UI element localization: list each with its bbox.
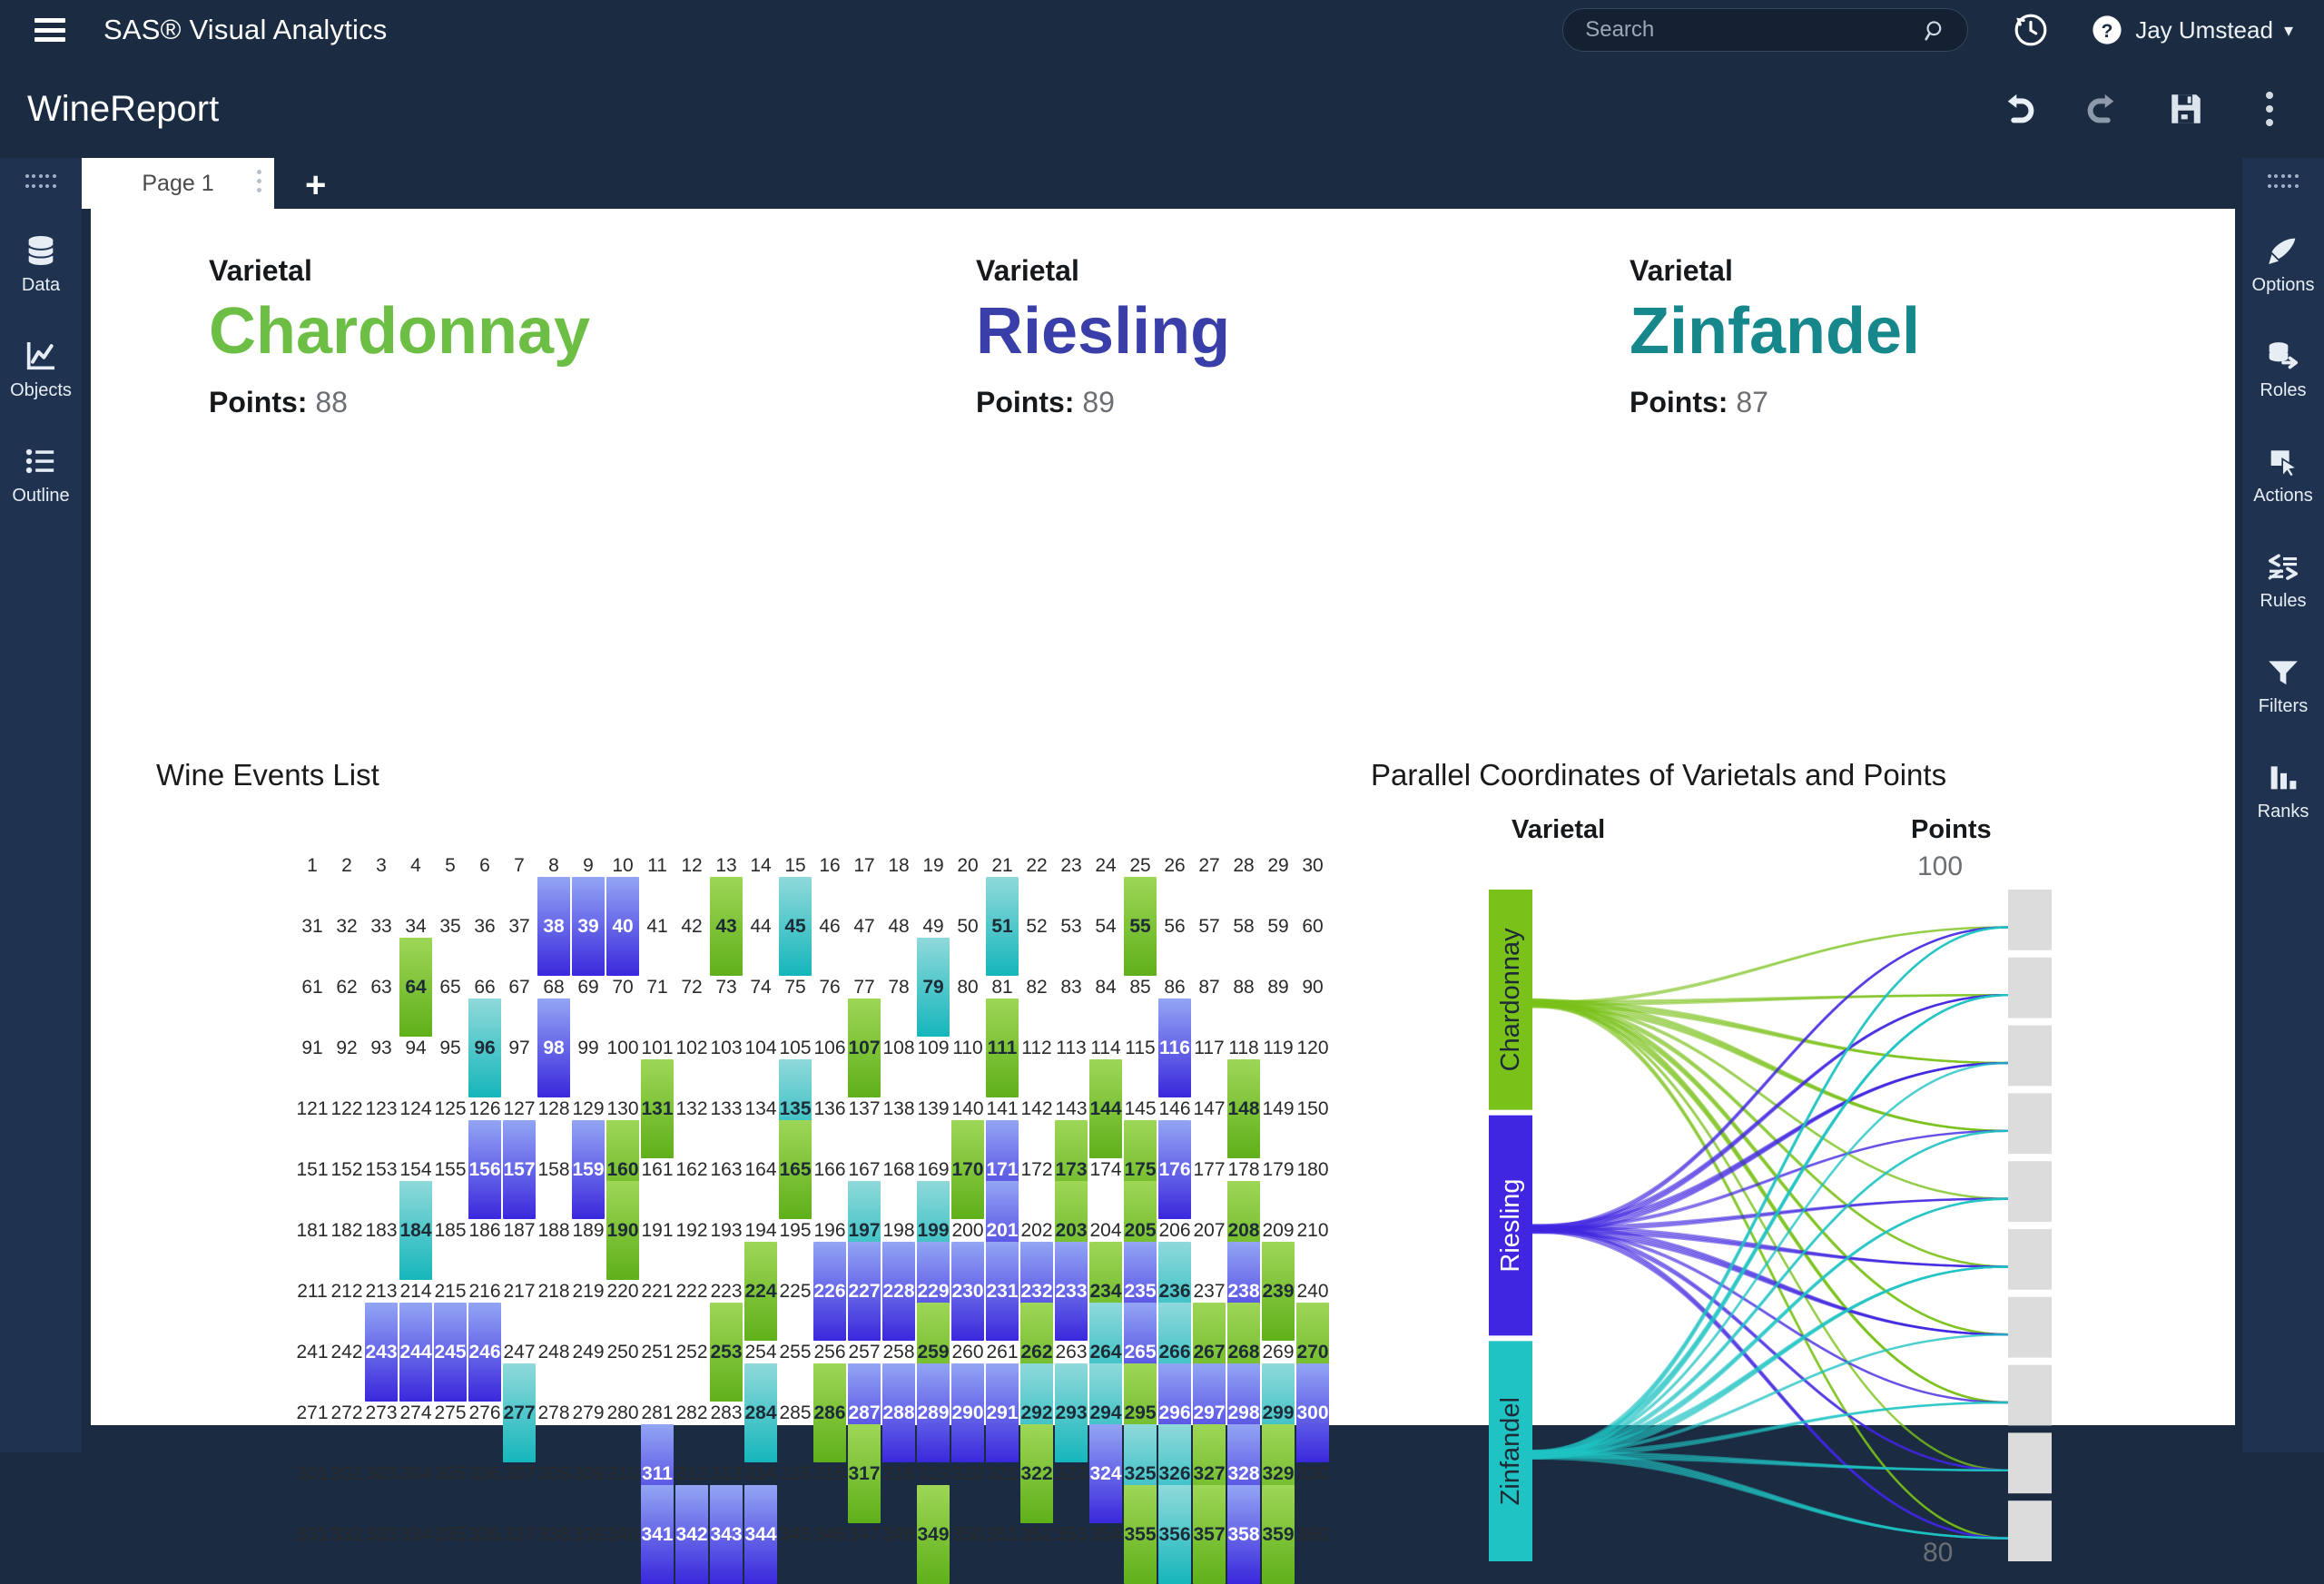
event-cell[interactable]: 17 xyxy=(847,835,881,896)
event-cell[interactable]: 318 xyxy=(881,1443,916,1504)
event-cell[interactable]: 310 xyxy=(606,1443,640,1504)
event-cell[interactable]: 180 xyxy=(1295,1139,1330,1200)
event-cell[interactable]: 121 xyxy=(295,1078,330,1139)
event-cell[interactable]: 110 xyxy=(950,1018,985,1078)
event-cell-highlighted[interactable]: 322 xyxy=(1019,1443,1054,1504)
event-cell-highlighted[interactable]: 96 xyxy=(468,1018,502,1078)
event-cell[interactable]: 211 xyxy=(295,1261,330,1322)
event-cell-highlighted[interactable]: 359 xyxy=(1261,1504,1295,1565)
more-options-button[interactable] xyxy=(2248,87,2291,131)
event-cell[interactable]: 305 xyxy=(433,1443,468,1504)
event-cell[interactable]: 306 xyxy=(468,1443,502,1504)
event-cell[interactable]: 85 xyxy=(1123,957,1157,1018)
sidebar-item-options[interactable]: Options xyxy=(2242,232,2324,296)
event-cell[interactable]: 323 xyxy=(1054,1443,1088,1504)
pc-points-segment[interactable] xyxy=(2008,890,2052,950)
event-cell[interactable]: 191 xyxy=(640,1200,675,1261)
event-cell[interactable]: 350 xyxy=(950,1504,985,1565)
event-cell[interactable]: 218 xyxy=(537,1261,571,1322)
event-cell[interactable]: 36 xyxy=(468,896,502,957)
event-cell[interactable]: 104 xyxy=(743,1018,778,1078)
tab-menu-icon[interactable] xyxy=(257,170,261,192)
event-cell[interactable]: 74 xyxy=(743,957,778,1018)
event-cell[interactable]: 23 xyxy=(1054,835,1088,896)
event-cell[interactable]: 352 xyxy=(1019,1504,1054,1565)
event-cell[interactable]: 187 xyxy=(502,1200,537,1261)
event-cell[interactable]: 137 xyxy=(847,1078,881,1139)
event-cell[interactable]: 89 xyxy=(1261,957,1295,1018)
event-cell-highlighted[interactable]: 288 xyxy=(881,1382,916,1443)
event-cell[interactable]: 222 xyxy=(675,1261,709,1322)
event-cell[interactable]: 152 xyxy=(330,1139,364,1200)
sidebar-item-rules[interactable]: Rules xyxy=(2242,548,2324,612)
event-cell[interactable]: 71 xyxy=(640,957,675,1018)
event-cell-highlighted[interactable]: 357 xyxy=(1192,1504,1226,1565)
event-cell[interactable]: 99 xyxy=(571,1018,606,1078)
event-cell-highlighted[interactable]: 227 xyxy=(847,1261,881,1322)
event-cell[interactable]: 123 xyxy=(364,1078,399,1139)
event-cell[interactable]: 20 xyxy=(950,835,985,896)
pc-points-segment[interactable] xyxy=(2008,1026,2052,1087)
event-cell[interactable]: 22 xyxy=(1019,835,1054,896)
event-cell[interactable]: 188 xyxy=(537,1200,571,1261)
event-cell[interactable]: 285 xyxy=(778,1382,812,1443)
pc-points-segment[interactable] xyxy=(2008,1093,2052,1154)
event-cell[interactable]: 122 xyxy=(330,1078,364,1139)
event-cell[interactable]: 172 xyxy=(1019,1139,1054,1200)
event-cell[interactable]: 346 xyxy=(812,1504,847,1565)
kpi-card-zinfandel[interactable]: Varietal Zinfandel Points: 87 xyxy=(1630,254,1920,419)
event-cell[interactable]: 128 xyxy=(537,1078,571,1139)
pc-points-segment[interactable] xyxy=(2008,958,2052,1018)
event-cell[interactable]: 315 xyxy=(778,1443,812,1504)
tab-page-1[interactable]: Page 1 xyxy=(82,158,274,209)
event-cell[interactable]: 271 xyxy=(295,1382,330,1443)
grip-icon[interactable] xyxy=(25,174,56,191)
event-cell[interactable]: 179 xyxy=(1261,1139,1295,1200)
event-cell-highlighted[interactable]: 284 xyxy=(743,1382,778,1443)
event-cell-highlighted[interactable]: 244 xyxy=(399,1322,433,1382)
event-cell[interactable]: 177 xyxy=(1192,1139,1226,1200)
event-cell[interactable]: 112 xyxy=(1019,1018,1054,1078)
event-cell[interactable]: 29 xyxy=(1261,835,1295,896)
hamburger-icon[interactable] xyxy=(34,18,65,42)
event-cell[interactable]: 132 xyxy=(675,1078,709,1139)
event-cell[interactable]: 221 xyxy=(640,1261,675,1322)
event-cell[interactable]: 151 xyxy=(295,1139,330,1200)
event-cell[interactable]: 41 xyxy=(640,896,675,957)
event-cell[interactable]: 186 xyxy=(468,1200,502,1261)
event-cell[interactable]: 273 xyxy=(364,1382,399,1443)
pc-points-segment[interactable] xyxy=(2008,1365,2052,1426)
event-cell-highlighted[interactable]: 341 xyxy=(640,1504,675,1565)
event-cell[interactable]: 250 xyxy=(606,1322,640,1382)
event-cell[interactable]: 87 xyxy=(1192,957,1226,1018)
event-cell[interactable]: 53 xyxy=(1054,896,1088,957)
sidebar-item-filters[interactable]: Filters xyxy=(2242,654,2324,717)
user-menu-label[interactable]: Jay Umstead xyxy=(2135,16,2273,44)
event-cell-highlighted[interactable]: 157 xyxy=(502,1139,537,1200)
event-cell-highlighted[interactable]: 356 xyxy=(1157,1504,1192,1565)
event-cell[interactable]: 95 xyxy=(433,1018,468,1078)
event-cell-highlighted[interactable]: 293 xyxy=(1054,1382,1088,1443)
event-cell[interactable]: 136 xyxy=(812,1078,847,1139)
event-cell[interactable]: 274 xyxy=(399,1382,433,1443)
event-cell[interactable]: 303 xyxy=(364,1443,399,1504)
event-cell[interactable]: 78 xyxy=(881,957,916,1018)
event-cell[interactable]: 142 xyxy=(1019,1078,1054,1139)
event-cell[interactable]: 48 xyxy=(881,896,916,957)
wine-events-grid[interactable]: 1234567891011121314151617181920212223242… xyxy=(295,835,1330,1565)
event-cell-highlighted[interactable]: 291 xyxy=(985,1382,1019,1443)
grip-icon[interactable] xyxy=(2268,174,2299,191)
event-cell[interactable]: 302 xyxy=(330,1443,364,1504)
event-cell-highlighted[interactable]: 246 xyxy=(468,1322,502,1382)
event-cell[interactable]: 304 xyxy=(399,1443,433,1504)
sidebar-item-data[interactable]: Data xyxy=(0,232,82,296)
event-cell[interactable]: 192 xyxy=(675,1200,709,1261)
event-cell[interactable]: 50 xyxy=(950,896,985,957)
event-cell[interactable]: 125 xyxy=(433,1078,468,1139)
event-cell[interactable]: 59 xyxy=(1261,896,1295,957)
event-cell[interactable]: 153 xyxy=(364,1139,399,1200)
event-cell[interactable]: 83 xyxy=(1054,957,1088,1018)
event-cell[interactable]: 58 xyxy=(1226,896,1261,957)
event-cell[interactable]: 210 xyxy=(1295,1200,1330,1261)
event-cell[interactable]: 252 xyxy=(675,1322,709,1382)
event-cell[interactable]: 14 xyxy=(743,835,778,896)
event-cell[interactable]: 147 xyxy=(1192,1078,1226,1139)
event-cell[interactable]: 11 xyxy=(640,835,675,896)
event-cell[interactable]: 93 xyxy=(364,1018,399,1078)
event-cell[interactable]: 330 xyxy=(1295,1443,1330,1504)
event-cell-highlighted[interactable]: 224 xyxy=(743,1261,778,1322)
pc-points-segment[interactable] xyxy=(2008,1161,2052,1222)
event-cell[interactable]: 100 xyxy=(606,1018,640,1078)
event-cell-highlighted[interactable]: 277 xyxy=(502,1382,537,1443)
event-cell-highlighted[interactable]: 230 xyxy=(950,1261,985,1322)
event-cell[interactable]: 31 xyxy=(295,896,330,957)
event-cell[interactable]: 278 xyxy=(537,1382,571,1443)
event-cell-highlighted[interactable]: 344 xyxy=(743,1504,778,1565)
event-cell[interactable]: 57 xyxy=(1192,896,1226,957)
event-cell-highlighted[interactable]: 40 xyxy=(606,896,640,957)
event-cell[interactable]: 354 xyxy=(1088,1504,1123,1565)
event-cell[interactable]: 182 xyxy=(330,1200,364,1261)
event-cell[interactable]: 276 xyxy=(468,1382,502,1443)
event-cell[interactable]: 97 xyxy=(502,1018,537,1078)
event-cell[interactable]: 1 xyxy=(295,835,330,896)
event-cell-highlighted[interactable]: 165 xyxy=(778,1139,812,1200)
event-cell-highlighted[interactable]: 98 xyxy=(537,1018,571,1078)
event-cell-highlighted[interactable]: 226 xyxy=(812,1261,847,1322)
event-cell-highlighted[interactable]: 349 xyxy=(916,1504,950,1565)
event-cell[interactable]: 251 xyxy=(640,1322,675,1382)
event-cell-highlighted[interactable]: 116 xyxy=(1157,1018,1192,1078)
kpi-card-riesling[interactable]: Varietal Riesling Points: 89 xyxy=(976,254,1230,419)
event-cell-highlighted[interactable]: 300 xyxy=(1295,1382,1330,1443)
event-cell[interactable]: 212 xyxy=(330,1261,364,1322)
event-cell-highlighted[interactable]: 176 xyxy=(1157,1139,1192,1200)
event-cell[interactable]: 73 xyxy=(709,957,743,1018)
search-box[interactable] xyxy=(1562,8,1968,52)
event-cell[interactable]: 72 xyxy=(675,957,709,1018)
event-cell[interactable]: 56 xyxy=(1157,896,1192,957)
event-cell[interactable]: 316 xyxy=(812,1443,847,1504)
event-cell[interactable]: 185 xyxy=(433,1200,468,1261)
event-cell-highlighted[interactable]: 190 xyxy=(606,1200,640,1261)
event-cell[interactable]: 164 xyxy=(743,1139,778,1200)
event-cell-highlighted[interactable]: 55 xyxy=(1123,896,1157,957)
event-cell[interactable]: 52 xyxy=(1019,896,1054,957)
event-cell-highlighted[interactable]: 239 xyxy=(1261,1261,1295,1322)
event-cell[interactable]: 32 xyxy=(330,896,364,957)
event-cell-highlighted[interactable]: 355 xyxy=(1123,1504,1157,1565)
event-cell-highlighted[interactable]: 289 xyxy=(916,1382,950,1443)
event-cell[interactable]: 4 xyxy=(399,835,433,896)
event-cell-highlighted[interactable]: 253 xyxy=(709,1322,743,1382)
event-cell[interactable]: 60 xyxy=(1295,896,1330,957)
event-cell-highlighted[interactable]: 107 xyxy=(847,1018,881,1078)
add-page-button[interactable]: + xyxy=(305,171,326,200)
event-cell[interactable]: 353 xyxy=(1054,1504,1088,1565)
sidebar-item-objects[interactable]: Objects xyxy=(0,338,82,401)
event-cell[interactable]: 67 xyxy=(502,957,537,1018)
event-cell[interactable]: 102 xyxy=(675,1018,709,1078)
event-cell[interactable]: 106 xyxy=(812,1018,847,1078)
event-cell[interactable]: 333 xyxy=(364,1504,399,1565)
event-cell-highlighted[interactable]: 38 xyxy=(537,896,571,957)
event-cell[interactable]: 2 xyxy=(330,835,364,896)
event-cell[interactable]: 18 xyxy=(881,835,916,896)
search-icon[interactable] xyxy=(1924,19,1947,43)
event-cell[interactable]: 360 xyxy=(1295,1504,1330,1565)
event-cell-highlighted[interactable]: 358 xyxy=(1226,1504,1261,1565)
event-cell[interactable]: 149 xyxy=(1261,1078,1295,1139)
sidebar-item-actions[interactable]: Actions xyxy=(2242,443,2324,507)
pc-points-segment[interactable] xyxy=(2008,1432,2052,1493)
event-cell[interactable]: 76 xyxy=(812,957,847,1018)
event-cell[interactable]: 12 xyxy=(675,835,709,896)
event-cell[interactable]: 16 xyxy=(812,835,847,896)
sidebar-item-outline[interactable]: Outline xyxy=(0,443,82,507)
event-cell[interactable]: 6 xyxy=(468,835,502,896)
event-cell-highlighted[interactable]: 184 xyxy=(399,1200,433,1261)
event-cell-highlighted[interactable]: 286 xyxy=(812,1382,847,1443)
event-cell-highlighted[interactable]: 43 xyxy=(709,896,743,957)
event-cell[interactable]: 249 xyxy=(571,1322,606,1382)
event-cell[interactable]: 134 xyxy=(743,1078,778,1139)
event-cell[interactable]: 272 xyxy=(330,1382,364,1443)
event-cell[interactable]: 163 xyxy=(709,1139,743,1200)
event-cell[interactable]: 301 xyxy=(295,1443,330,1504)
event-cell[interactable]: 174 xyxy=(1088,1139,1123,1200)
event-cell-highlighted[interactable]: 343 xyxy=(709,1504,743,1565)
event-cell[interactable]: 331 xyxy=(295,1504,330,1565)
event-cell[interactable]: 225 xyxy=(778,1261,812,1322)
event-cell[interactable]: 3 xyxy=(364,835,399,896)
sidebar-item-roles[interactable]: Roles xyxy=(2242,338,2324,401)
event-cell[interactable]: 168 xyxy=(881,1139,916,1200)
event-cell[interactable]: 30 xyxy=(1295,835,1330,896)
event-cell[interactable]: 28 xyxy=(1226,835,1261,896)
event-cell-highlighted[interactable]: 159 xyxy=(571,1139,606,1200)
event-cell-highlighted[interactable]: 290 xyxy=(950,1382,985,1443)
event-cell[interactable]: 337 xyxy=(502,1504,537,1565)
event-cell[interactable]: 63 xyxy=(364,957,399,1018)
undo-button[interactable] xyxy=(1997,87,2041,131)
event-cell[interactable]: 193 xyxy=(709,1200,743,1261)
event-cell[interactable]: 334 xyxy=(399,1504,433,1565)
event-cell[interactable]: 54 xyxy=(1088,896,1123,957)
event-cell[interactable]: 347 xyxy=(847,1504,881,1565)
event-cell[interactable]: 241 xyxy=(295,1322,330,1382)
event-cell-highlighted[interactable]: 39 xyxy=(571,896,606,957)
event-cell[interactable]: 124 xyxy=(399,1078,433,1139)
event-cell[interactable]: 26 xyxy=(1157,835,1192,896)
event-cell[interactable]: 61 xyxy=(295,957,330,1018)
event-cell-highlighted[interactable]: 45 xyxy=(778,896,812,957)
parallel-coordinates-plot[interactable]: ChardonnayRieslingZinfandel xyxy=(1452,890,2088,1561)
event-cell[interactable]: 65 xyxy=(433,957,468,1018)
event-cell-highlighted[interactable]: 228 xyxy=(881,1261,916,1322)
chevron-down-icon[interactable]: ▾ xyxy=(2284,19,2293,42)
event-cell-highlighted[interactable]: 131 xyxy=(640,1078,675,1139)
event-cell-highlighted[interactable]: 342 xyxy=(675,1504,709,1565)
pc-points-segment[interactable] xyxy=(2008,1229,2052,1290)
event-cell[interactable]: 162 xyxy=(675,1139,709,1200)
event-cell-highlighted[interactable]: 324 xyxy=(1088,1443,1123,1504)
event-cell[interactable]: 92 xyxy=(330,1018,364,1078)
event-cell-highlighted[interactable]: 64 xyxy=(399,957,433,1018)
event-cell[interactable]: 90 xyxy=(1295,957,1330,1018)
save-button[interactable] xyxy=(2164,87,2208,131)
event-cell[interactable]: 5 xyxy=(433,835,468,896)
event-cell[interactable]: 220 xyxy=(606,1261,640,1322)
event-cell[interactable]: 280 xyxy=(606,1382,640,1443)
event-cell[interactable]: 35 xyxy=(433,896,468,957)
event-cell-highlighted[interactable]: 51 xyxy=(985,896,1019,957)
event-cell[interactable]: 109 xyxy=(916,1018,950,1078)
pc-points-segment[interactable] xyxy=(2008,1297,2052,1358)
event-cell[interactable]: 33 xyxy=(364,896,399,957)
event-cell-highlighted[interactable]: 245 xyxy=(433,1322,468,1382)
event-cell[interactable]: 339 xyxy=(571,1504,606,1565)
event-cell[interactable]: 138 xyxy=(881,1078,916,1139)
event-cell[interactable]: 248 xyxy=(537,1322,571,1382)
event-cell[interactable]: 139 xyxy=(916,1078,950,1139)
event-cell[interactable]: 283 xyxy=(709,1382,743,1443)
event-cell[interactable]: 119 xyxy=(1261,1018,1295,1078)
event-cell[interactable]: 47 xyxy=(847,896,881,957)
event-cell[interactable]: 37 xyxy=(502,896,537,957)
event-cell-highlighted[interactable]: 233 xyxy=(1054,1261,1088,1322)
event-cell[interactable]: 309 xyxy=(571,1443,606,1504)
event-cell[interactable]: 113 xyxy=(1054,1018,1088,1078)
event-cell-highlighted[interactable]: 231 xyxy=(985,1261,1019,1322)
event-cell[interactable]: 195 xyxy=(778,1200,812,1261)
event-cell[interactable]: 70 xyxy=(606,957,640,1018)
event-cell[interactable]: 332 xyxy=(330,1504,364,1565)
event-cell[interactable]: 120 xyxy=(1295,1018,1330,1078)
event-cell[interactable]: 24 xyxy=(1088,835,1123,896)
event-cell[interactable]: 181 xyxy=(295,1200,330,1261)
event-cell[interactable]: 62 xyxy=(330,957,364,1018)
search-input[interactable] xyxy=(1563,17,1890,43)
event-cell[interactable]: 255 xyxy=(778,1322,812,1382)
event-cell[interactable]: 320 xyxy=(950,1443,985,1504)
event-cell[interactable]: 338 xyxy=(537,1504,571,1565)
event-cell[interactable]: 133 xyxy=(709,1078,743,1139)
event-cell[interactable]: 340 xyxy=(606,1504,640,1565)
redo-button[interactable] xyxy=(2081,87,2124,131)
event-cell[interactable]: 108 xyxy=(881,1018,916,1078)
event-cell[interactable]: 207 xyxy=(1192,1200,1226,1261)
event-cell[interactable]: 46 xyxy=(812,896,847,957)
event-cell-highlighted[interactable]: 111 xyxy=(985,1018,1019,1078)
event-cell[interactable]: 282 xyxy=(675,1382,709,1443)
event-cell[interactable]: 275 xyxy=(433,1382,468,1443)
event-cell[interactable]: 69 xyxy=(571,957,606,1018)
sidebar-item-ranks[interactable]: Ranks xyxy=(2242,759,2324,822)
history-icon[interactable] xyxy=(2014,13,2048,47)
event-cell[interactable]: 82 xyxy=(1019,957,1054,1018)
event-cell[interactable]: 88 xyxy=(1226,957,1261,1018)
event-cell[interactable]: 217 xyxy=(502,1261,537,1322)
event-cell[interactable]: 242 xyxy=(330,1322,364,1382)
event-cell[interactable]: 166 xyxy=(812,1139,847,1200)
event-cell[interactable]: 19 xyxy=(916,835,950,896)
event-cell[interactable]: 115 xyxy=(1123,1018,1157,1078)
event-cell[interactable]: 307 xyxy=(502,1443,537,1504)
event-cell[interactable]: 42 xyxy=(675,896,709,957)
event-cell[interactable]: 75 xyxy=(778,957,812,1018)
event-cell[interactable]: 150 xyxy=(1295,1078,1330,1139)
event-cell[interactable]: 279 xyxy=(571,1382,606,1443)
event-cell[interactable]: 189 xyxy=(571,1200,606,1261)
event-cell[interactable]: 308 xyxy=(537,1443,571,1504)
event-cell[interactable]: 103 xyxy=(709,1018,743,1078)
pc-points-segment[interactable] xyxy=(2008,1500,2052,1561)
event-cell-highlighted[interactable]: 79 xyxy=(916,957,950,1018)
event-cell[interactable]: 219 xyxy=(571,1261,606,1322)
event-cell-highlighted[interactable]: 317 xyxy=(847,1443,881,1504)
event-cell[interactable]: 117 xyxy=(1192,1018,1226,1078)
event-cell-highlighted[interactable]: 156 xyxy=(468,1139,502,1200)
event-cell[interactable]: 91 xyxy=(295,1018,330,1078)
event-cell[interactable]: 158 xyxy=(537,1139,571,1200)
help-icon[interactable]: ? xyxy=(2092,15,2122,45)
event-cell[interactable]: 84 xyxy=(1088,957,1123,1018)
event-cell-highlighted[interactable]: 170 xyxy=(950,1139,985,1200)
event-cell[interactable]: 94 xyxy=(399,1018,433,1078)
event-cell[interactable]: 336 xyxy=(468,1504,502,1565)
event-cell[interactable]: 335 xyxy=(433,1504,468,1565)
kpi-card-chardonnay[interactable]: Varietal Chardonnay Points: 88 xyxy=(209,254,590,419)
event-cell-highlighted[interactable]: 148 xyxy=(1226,1078,1261,1139)
event-cell-highlighted[interactable]: 243 xyxy=(364,1322,399,1382)
event-cell[interactable]: 345 xyxy=(778,1504,812,1565)
event-cell[interactable]: 80 xyxy=(950,957,985,1018)
event-cell[interactable]: 27 xyxy=(1192,835,1226,896)
event-cell-highlighted[interactable]: 144 xyxy=(1088,1078,1123,1139)
event-cell[interactable]: 183 xyxy=(364,1200,399,1261)
event-cell[interactable]: 44 xyxy=(743,896,778,957)
event-cell[interactable]: 351 xyxy=(985,1504,1019,1565)
event-cell[interactable]: 321 xyxy=(985,1443,1019,1504)
event-cell[interactable]: 348 xyxy=(881,1504,916,1565)
event-cell[interactable]: 7 xyxy=(502,835,537,896)
